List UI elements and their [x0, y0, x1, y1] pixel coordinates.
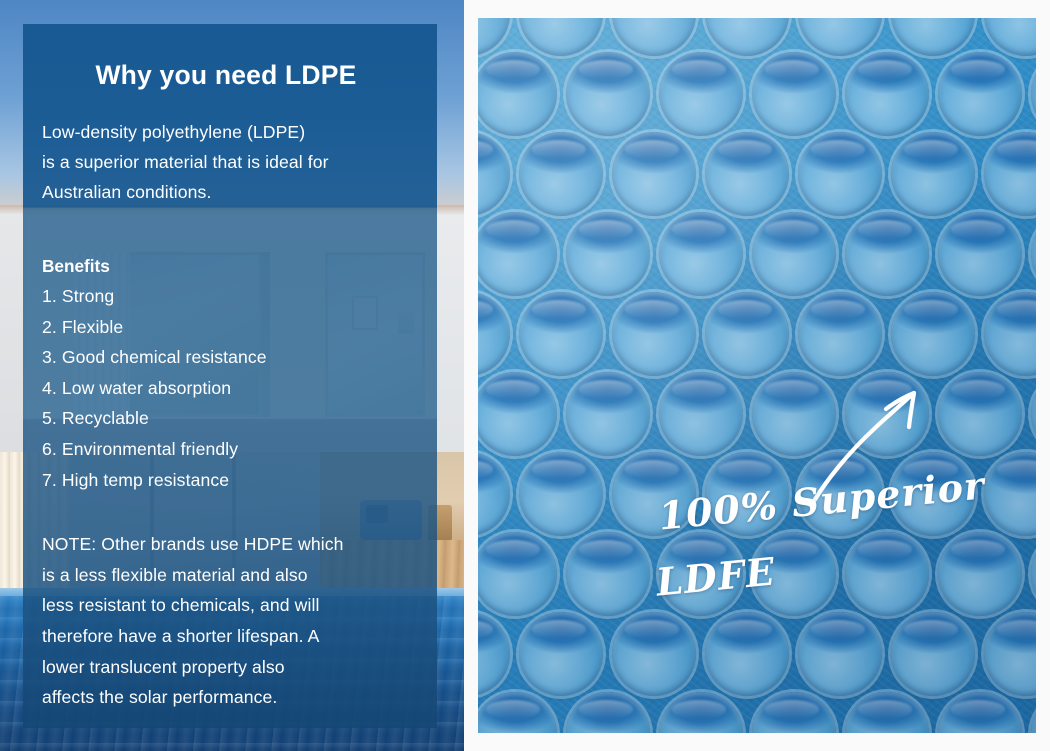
benefits-heading: Benefits — [42, 251, 418, 281]
note-line: NOTE: Other brands use HDPE which — [42, 529, 418, 560]
bubble-cell — [705, 292, 789, 376]
bubble-cell — [519, 292, 603, 376]
bubble-cell — [938, 372, 1022, 456]
card-title: Why you need LDPE — [42, 60, 418, 91]
bubble-cell — [566, 52, 650, 136]
bubble-cell — [659, 212, 743, 296]
bubble-cell — [519, 452, 603, 536]
note-line: less resistant to chemicals, and will — [42, 590, 418, 621]
benefit-item: 3. Good chemical resistance — [42, 342, 418, 373]
bubble-cell — [938, 532, 1022, 616]
note-line: affects the solar performance. — [42, 682, 418, 713]
bubble-cell — [659, 372, 743, 456]
bubble-cell — [891, 132, 975, 216]
note-line: is a less flexible material and also — [42, 560, 418, 591]
bubble-cell — [566, 372, 650, 456]
bubble-cell — [891, 292, 975, 376]
benefits-list: 1. Strong 2. Flexible 3. Good chemical r… — [42, 281, 418, 495]
bubble-cell — [612, 132, 696, 216]
bubble-cell — [519, 132, 603, 216]
left-panel: Why you need LDPE Low-density polyethyle… — [0, 0, 464, 751]
bubble-cell — [938, 212, 1022, 296]
bubble-cell — [845, 532, 929, 616]
benefit-item: 4. Low water absorption — [42, 373, 418, 404]
bubble-cell — [845, 212, 929, 296]
info-card: Why you need LDPE Low-density polyethyle… — [23, 24, 437, 728]
bubble-cell — [519, 612, 603, 696]
benefit-item: 1. Strong — [42, 281, 418, 312]
bubble-cell — [478, 52, 557, 136]
benefit-item: 6. Environmental friendly — [42, 434, 418, 465]
note-line: lower translucent property also — [42, 652, 418, 683]
bubble-cell — [752, 52, 836, 136]
benefit-item: 5. Recyclable — [42, 403, 418, 434]
bubble-cell — [752, 212, 836, 296]
benefit-item: 2. Flexible — [42, 312, 418, 343]
bubble-cell — [566, 212, 650, 296]
bubble-cover-image: 100% Superior LDFE — [478, 18, 1036, 733]
bubble-cell — [938, 52, 1022, 136]
intro-line: is a superior material that is ideal for — [42, 147, 418, 177]
bubble-cell — [705, 612, 789, 696]
bubble-cell — [566, 532, 650, 616]
bubble-cell — [705, 132, 789, 216]
intro-line: Australian conditions. — [42, 177, 418, 207]
bubble-cell — [612, 612, 696, 696]
bubble-cell — [891, 612, 975, 696]
bubble-cell — [798, 292, 882, 376]
bubble-cell — [798, 132, 882, 216]
bubble-cell — [478, 212, 557, 296]
note-block: NOTE: Other brands use HDPE which is a l… — [42, 529, 418, 713]
bubble-cell — [845, 52, 929, 136]
bubble-cell — [478, 372, 557, 456]
note-line: therefore have a shorter lifespan. A — [42, 621, 418, 652]
card-intro: Low-density polyethylene (LDPE) is a sup… — [42, 117, 418, 207]
benefit-item: 7. High temp resistance — [42, 465, 418, 496]
intro-line: Low-density polyethylene (LDPE) — [42, 117, 418, 147]
bubble-cell — [612, 292, 696, 376]
bubble-cell — [478, 532, 557, 616]
bubble-cell — [798, 612, 882, 696]
bubble-cell — [659, 52, 743, 136]
